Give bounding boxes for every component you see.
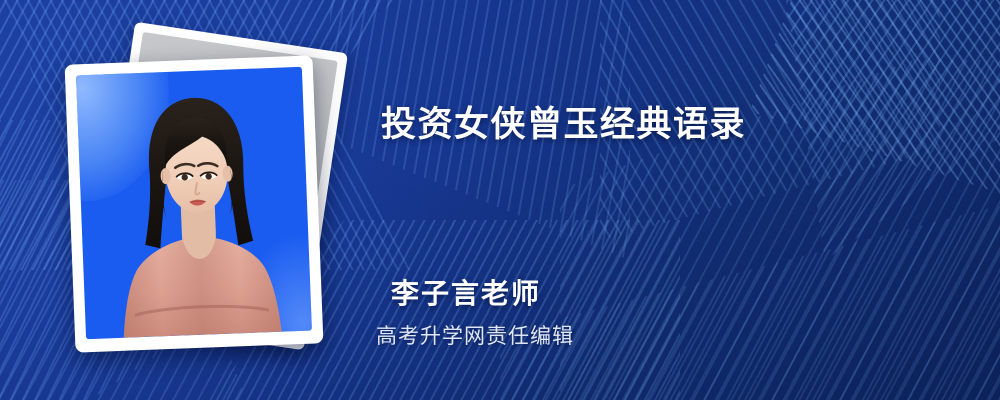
page-title: 投资女侠曾玉经典语录 [381,96,746,147]
author-name: 李子言老师 [391,272,541,312]
portrait-illustration-icon [100,81,295,338]
photo-stack [60,28,350,368]
photo-card-front [65,55,324,352]
article-banner: 投资女侠曾玉经典语录 李子言老师 高考升学网责任编辑 [0,0,1000,400]
portrait-photo [76,67,312,339]
author-role: 高考升学网责任编辑 [376,320,574,350]
